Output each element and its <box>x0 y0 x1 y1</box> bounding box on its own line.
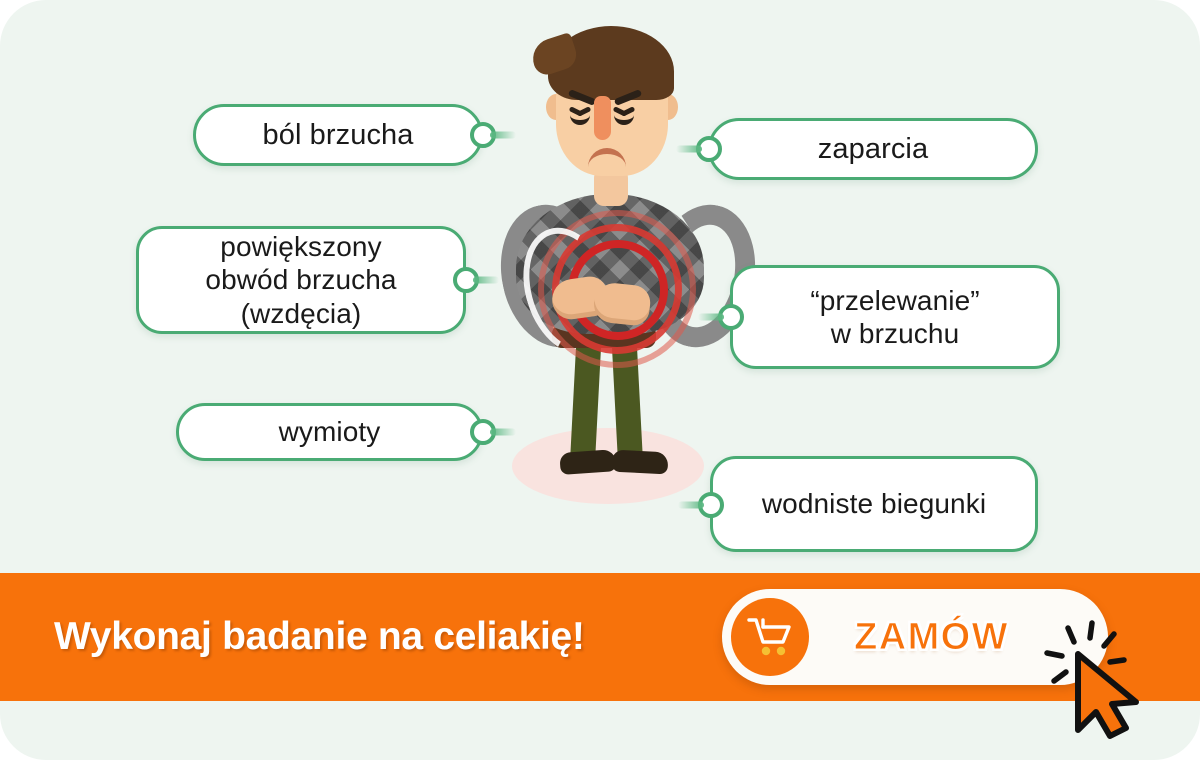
connector-node-powiekszony-obwod <box>453 267 479 293</box>
symptom-text: zaparcia <box>808 132 938 166</box>
connector-node-wodniste-biegunki <box>698 492 724 518</box>
symptom-text: wymioty <box>269 415 391 448</box>
infographic-root: ból brzucha powiększony obwód brzucha (w… <box>0 0 1200 774</box>
shopping-cart-icon <box>731 598 809 676</box>
connector-node-przelewanie <box>718 304 744 330</box>
mouse-pointer-click-icon <box>1044 620 1154 740</box>
connector-node-bol-brzucha <box>470 122 496 148</box>
connector-node-wymioty <box>470 419 496 445</box>
left-eye-closed <box>570 106 590 125</box>
right-shoe <box>611 450 668 475</box>
symptom-box-przelewanie[interactable]: “przelewanie” w brzuchu <box>730 265 1060 369</box>
symptom-text: “przelewanie” w brzuchu <box>800 284 989 350</box>
symptom-box-bol-brzucha[interactable]: ból brzucha <box>193 104 483 166</box>
symptom-box-powiekszony-obwod[interactable]: powiększony obwód brzucha (wzdęcia) <box>136 226 466 334</box>
right-eye-closed <box>614 106 634 125</box>
symptom-box-wodniste-biegunki[interactable]: wodniste biegunki <box>710 456 1038 552</box>
left-shoe <box>559 449 616 475</box>
cta-headline: Wykonaj badanie na celiakię! <box>54 615 585 659</box>
nose <box>594 96 611 140</box>
connector-node-zaparcia <box>696 136 722 162</box>
cta-banner: Wykonaj badanie na celiakię! ZAMÓW <box>0 573 1200 701</box>
symptom-box-zaparcia[interactable]: zaparcia <box>708 118 1038 180</box>
hair <box>548 26 674 100</box>
symptom-text: powiększony obwód brzucha (wzdęcia) <box>195 230 406 329</box>
symptom-text: wodniste biegunki <box>752 487 996 520</box>
character-illustration <box>490 8 730 508</box>
symptom-text: ból brzucha <box>252 118 423 152</box>
symptom-box-wymioty[interactable]: wymioty <box>176 403 483 461</box>
